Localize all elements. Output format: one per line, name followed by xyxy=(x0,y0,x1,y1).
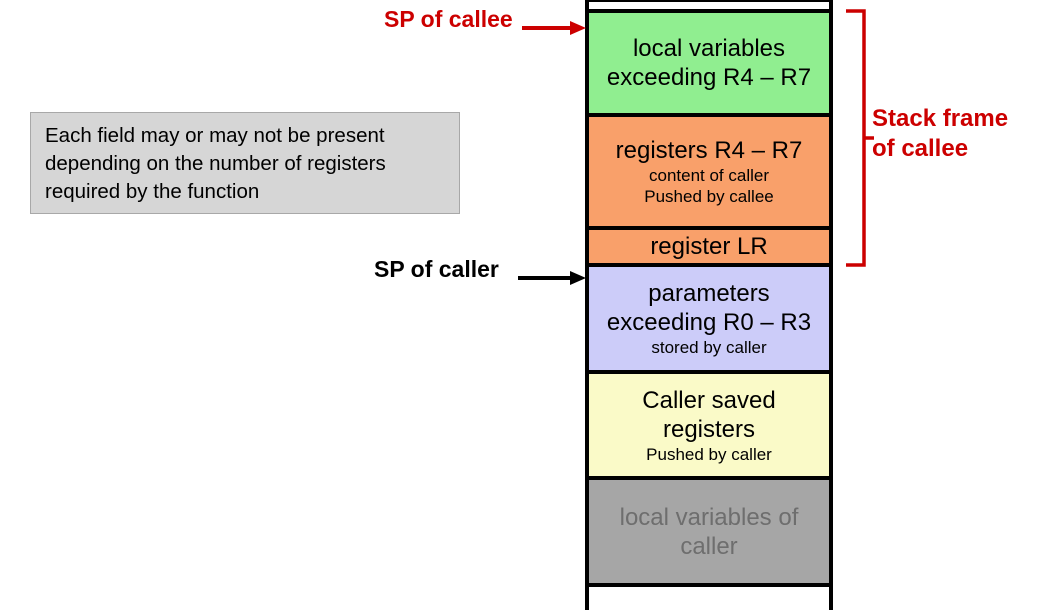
cell-text-line1: registers R4 – R7 xyxy=(616,136,803,165)
cell-text-line1: register LR xyxy=(650,232,767,261)
cell-text-line1: local variables of xyxy=(620,503,799,532)
cell-text-line1: local variables xyxy=(633,34,785,63)
cell-text-line2: caller xyxy=(680,532,737,561)
cell-subtext-line1: stored by caller xyxy=(651,337,766,358)
stack-cell-registers-r4-r7: registers R4 – R7 content of caller Push… xyxy=(589,115,829,228)
cell-text-line2: exceeding R0 – R3 xyxy=(607,308,811,337)
stack-cell-register-lr: register LR xyxy=(589,228,829,265)
frame-label-line2: of callee xyxy=(872,134,1008,164)
stack-cell-local-variables-callee: local variables exceeding R4 – R7 xyxy=(589,11,829,115)
cell-subtext-line1: Pushed by caller xyxy=(646,444,772,465)
cell-subtext-line2: Pushed by callee xyxy=(644,186,773,207)
note-line-2: depending on the number of registers xyxy=(45,150,447,178)
sp-of-caller-annotation: SP of caller xyxy=(374,256,586,288)
cell-text-line2: registers xyxy=(663,415,755,444)
cell-text-line1: Caller saved xyxy=(642,386,775,415)
cell-text-line1: parameters xyxy=(648,279,769,308)
cell-text-line2: exceeding R4 – R7 xyxy=(607,63,811,92)
arrow-right-icon xyxy=(374,256,586,288)
arrow-right-icon xyxy=(384,6,586,38)
frame-label-line1: Stack frame xyxy=(872,104,1008,134)
stack-cell-parameters-r0-r3: parameters exceeding R0 – R3 stored by c… xyxy=(589,265,829,372)
stack-cell-local-variables-caller: local variables of caller xyxy=(589,478,829,585)
stack-cell-empty-top xyxy=(589,0,829,11)
sp-of-callee-annotation: SP of callee xyxy=(384,6,586,38)
stack-cell-empty-bottom xyxy=(589,585,829,610)
stack-column: local variables exceeding R4 – R7 regist… xyxy=(585,0,833,610)
cell-subtext-line1: content of caller xyxy=(649,165,769,186)
stack-cell-caller-saved-registers: Caller saved registers Pushed by caller xyxy=(589,372,829,478)
note-line-3: required by the function xyxy=(45,178,447,206)
note-line-1: Each field may or may not be present xyxy=(45,122,447,150)
stack-frame-of-callee-label: Stack frame of callee xyxy=(872,104,1008,164)
note-box: Each field may or may not be present dep… xyxy=(30,112,460,214)
